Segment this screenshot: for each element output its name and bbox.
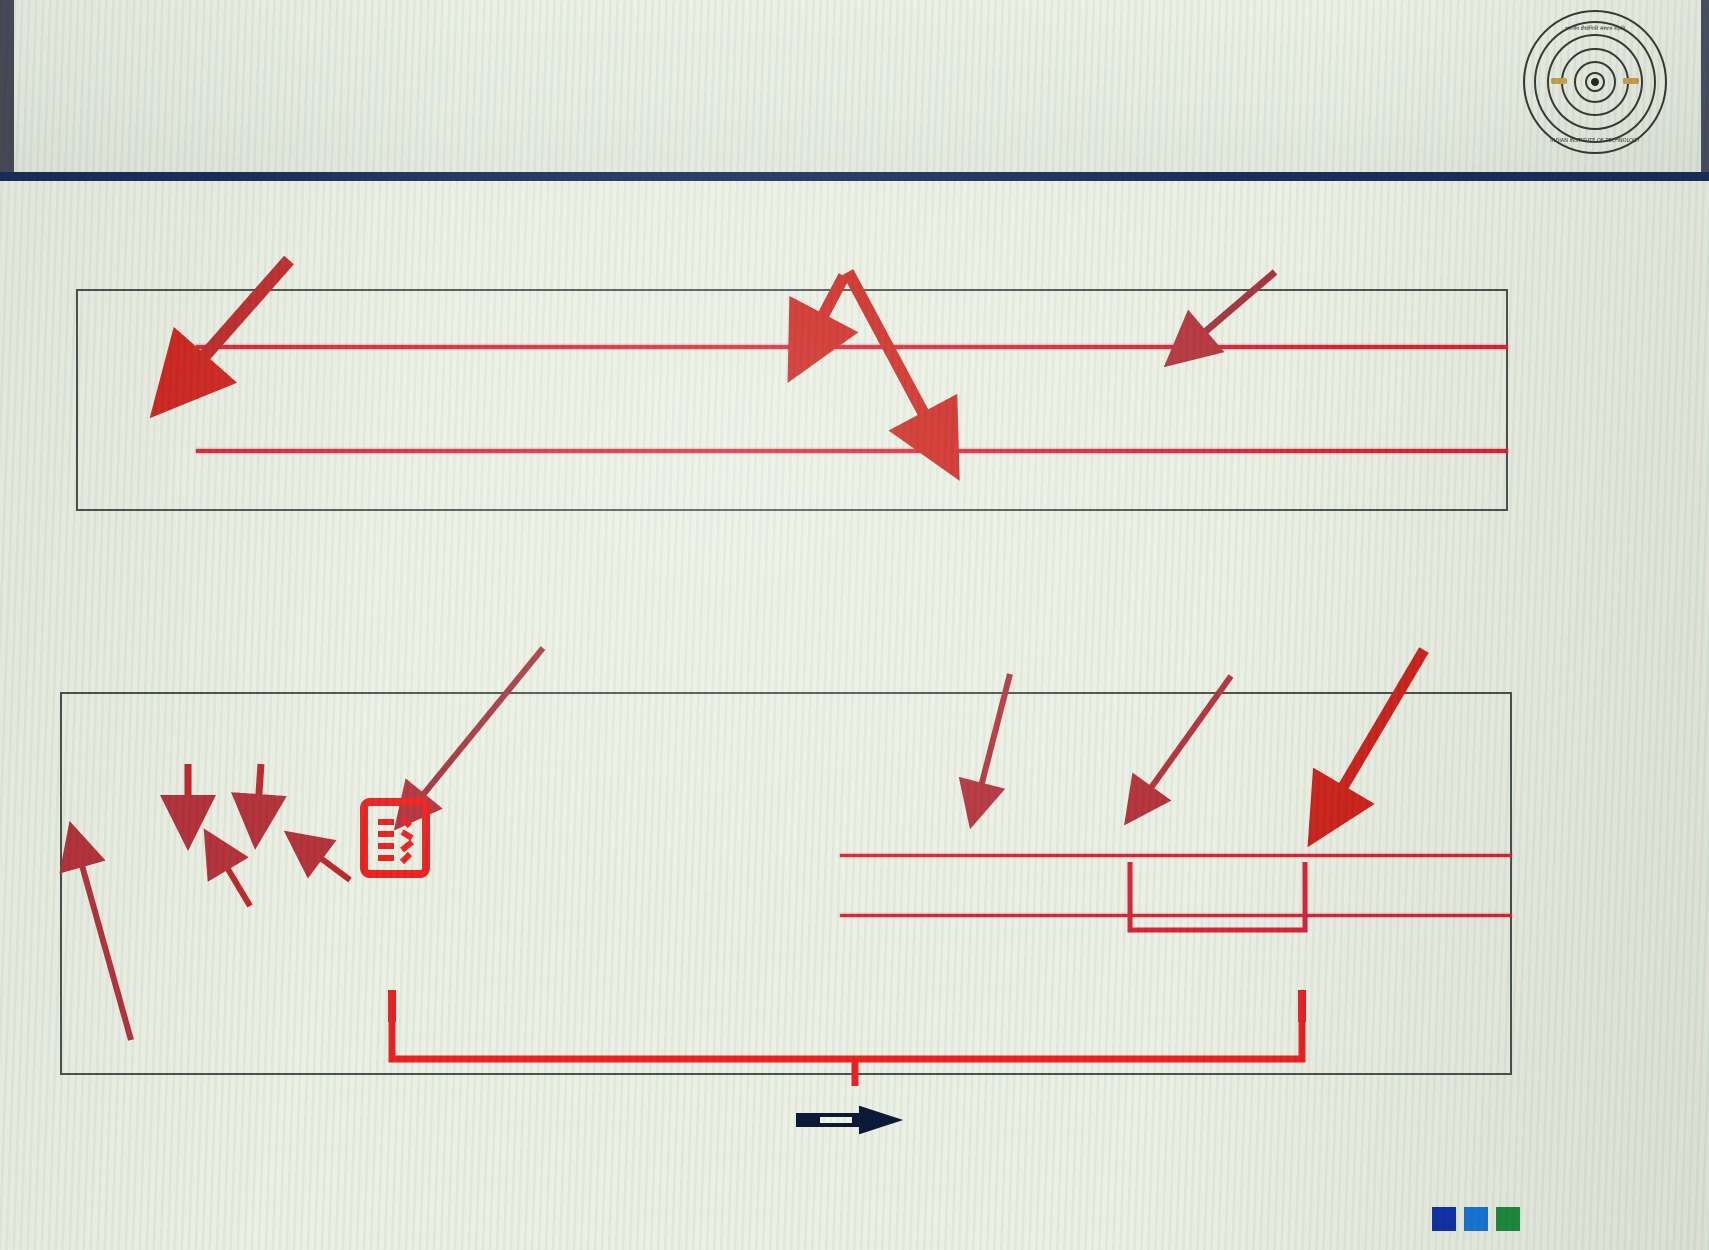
bottom-threshold-lower [840, 914, 1512, 917]
top-threshold-upper [196, 345, 1508, 349]
top-accelerogram-chart [76, 289, 1508, 511]
time-direction-arrow-icon [797, 1107, 900, 1133]
top-chart-waveform [76, 289, 1508, 511]
bottom-threshold-upper [840, 854, 1512, 857]
badge-square-3 [1496, 1207, 1520, 1231]
slide-canvas: भारतीय प्रौद्योगिकी संस्थान रुड़की INDIA… [0, 0, 1709, 1250]
header-left-edge [0, 0, 14, 172]
bottom-accelerogram-chart [60, 692, 1512, 1075]
top-threshold-lower [196, 449, 1508, 453]
iit-roorkee-seal-icon: भारतीय प्रौद्योगिकी संस्थान रुड़की INDIA… [1521, 8, 1669, 156]
header-right-edge [1701, 0, 1709, 172]
bottom-chart-waveform [60, 692, 1512, 1075]
svg-text:भारतीय प्रौद्योगिकी संस्थान रु: भारतीय प्रौद्योगिकी संस्थान रुड़की [1565, 25, 1625, 32]
slide-header: भारतीय प्रौद्योगिकी संस्थान रुड़की INDIA… [0, 0, 1709, 181]
iit-roorkee-footer-badge [1424, 1207, 1520, 1231]
svg-text:INDIAN INSTITUTE OF TECHNOLOGY: INDIAN INSTITUTE OF TECHNOLOGY [1550, 138, 1640, 144]
badge-square-1 [1432, 1207, 1456, 1231]
badge-square-2 [1464, 1207, 1488, 1231]
